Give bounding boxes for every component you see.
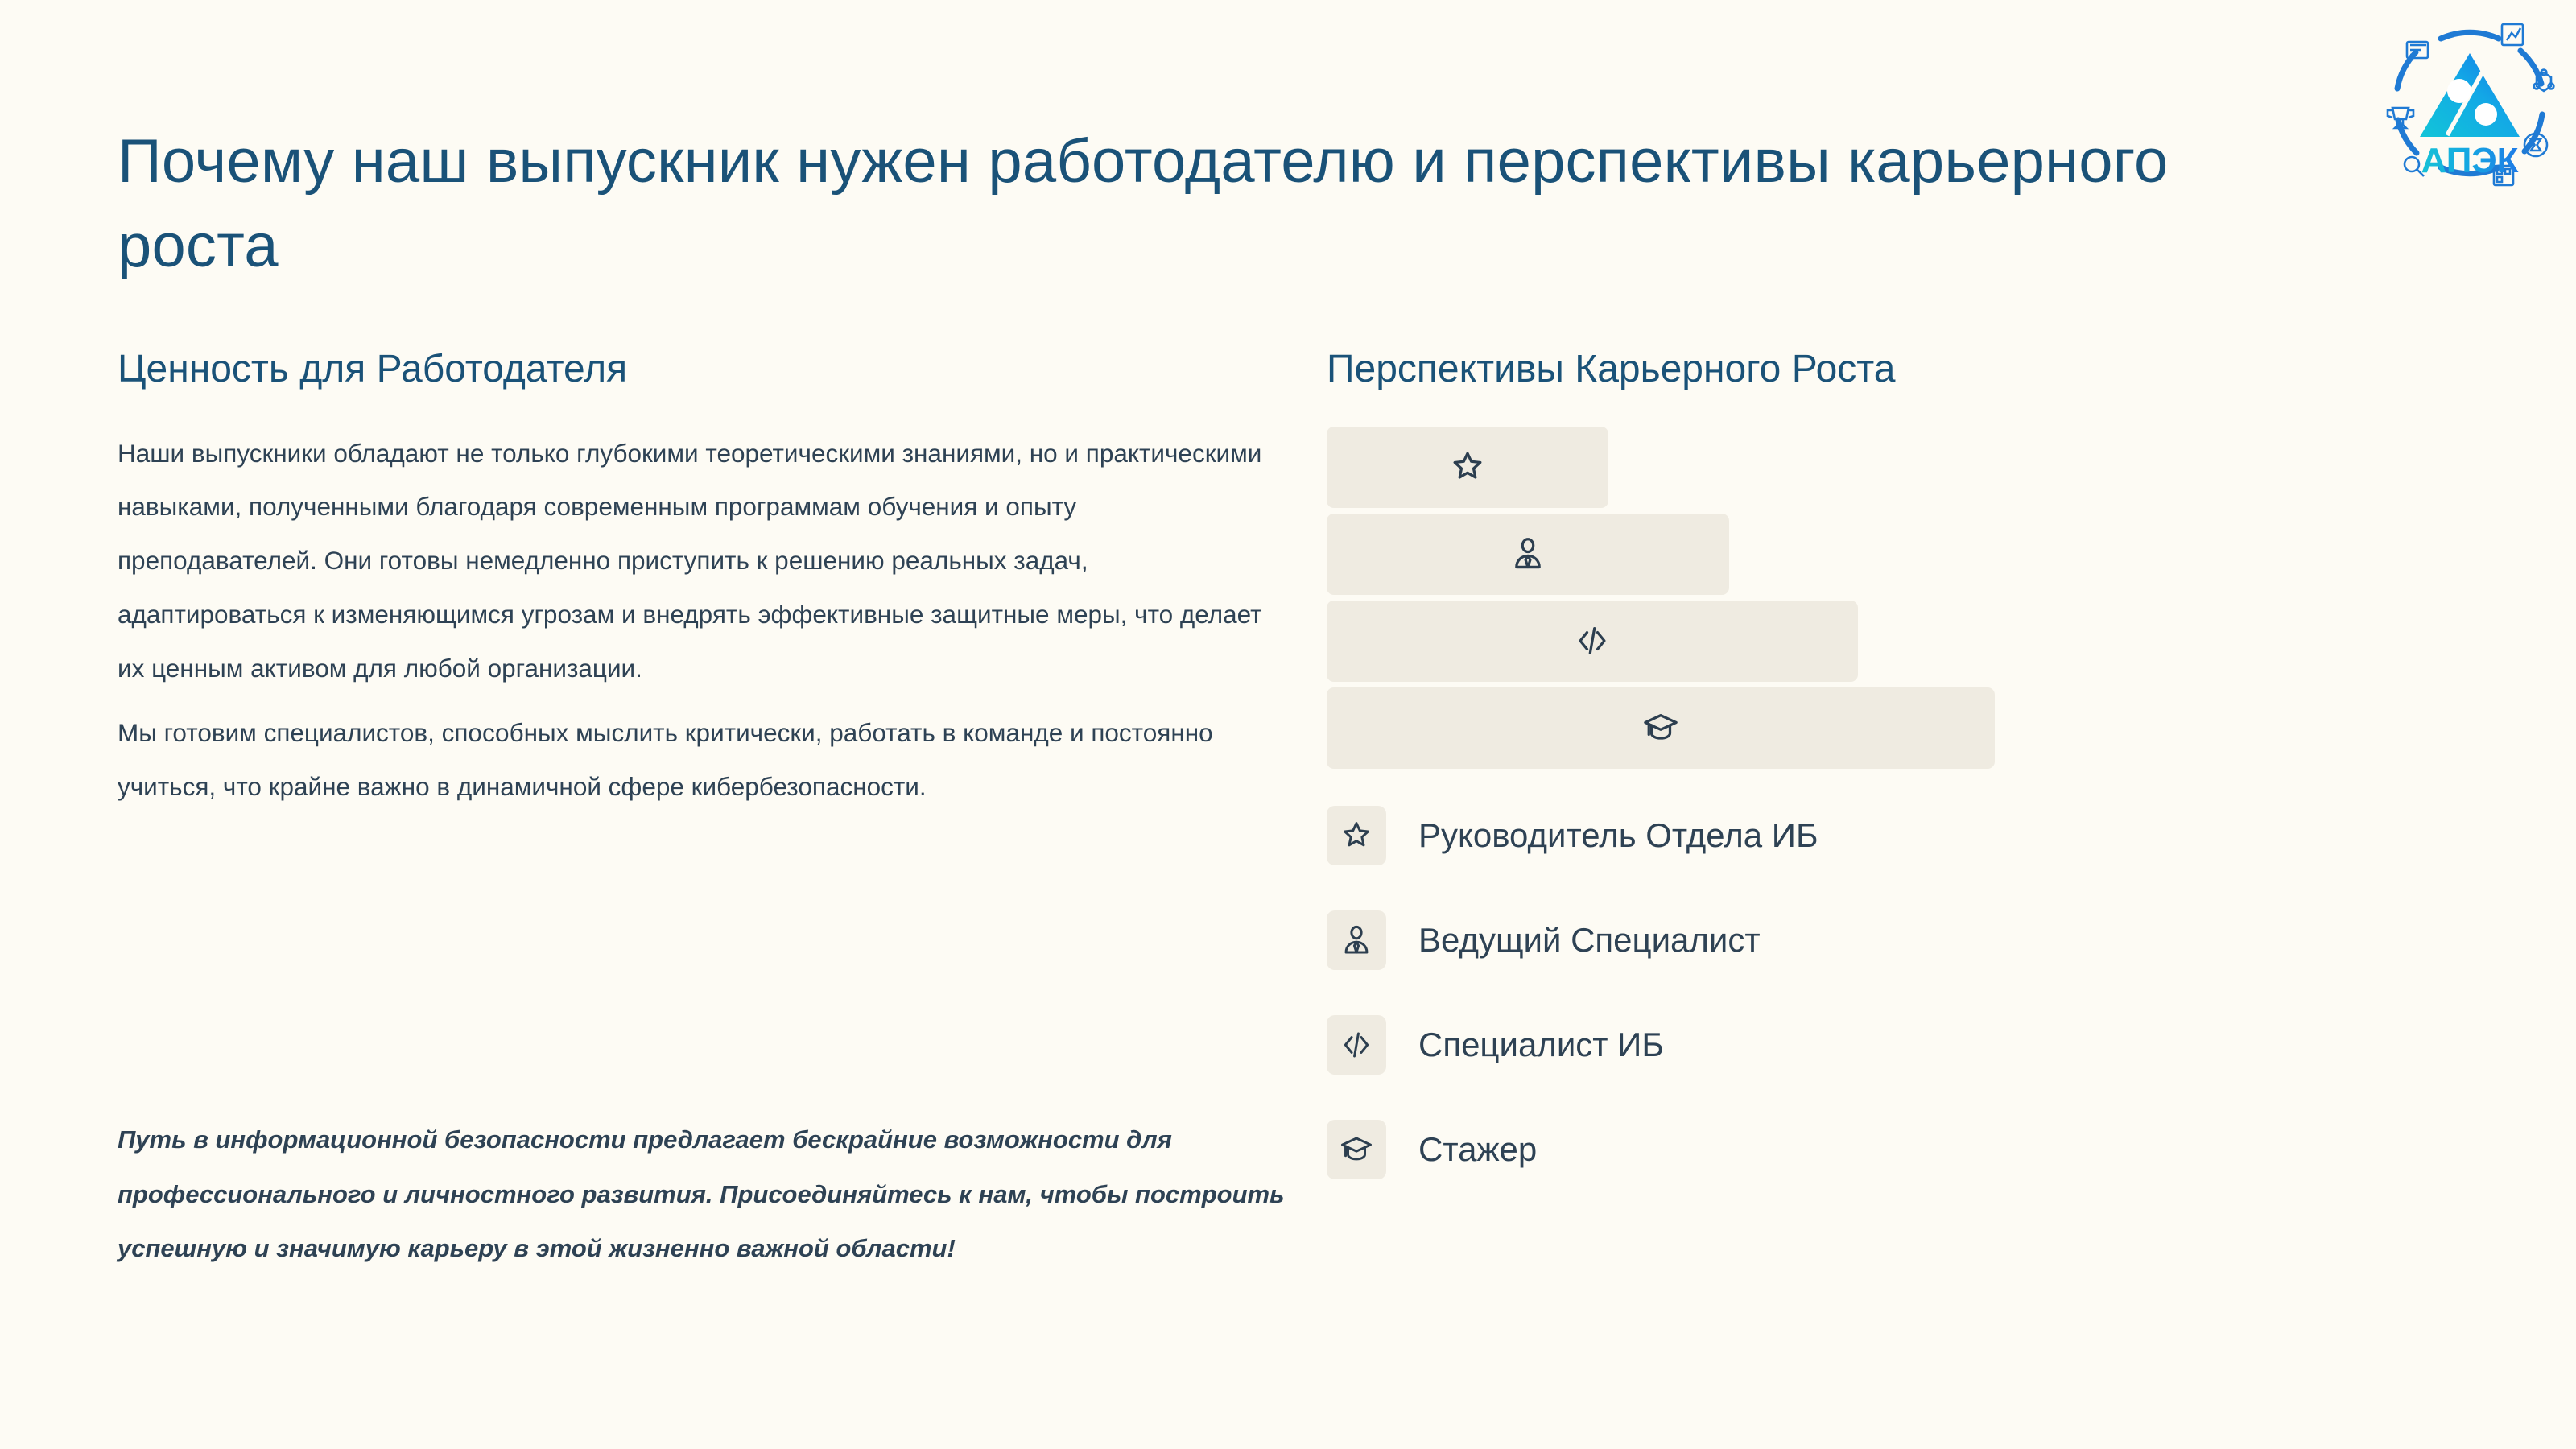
bar-row (1327, 687, 2502, 769)
bar-specialist (1327, 601, 1858, 682)
list-item: Руководитель Отдела ИБ (1327, 806, 2502, 865)
bar-rukovoditel (1327, 427, 1608, 508)
legend-label: Стажер (1418, 1133, 1537, 1166)
apek-logo: АПЭК (2381, 14, 2558, 192)
graduation-cap-icon (1637, 704, 1684, 751)
bar-row (1327, 427, 2502, 508)
user-tie-icon (1327, 910, 1386, 970)
graduation-cap-icon (1327, 1120, 1386, 1179)
employer-value-heading: Ценность для Работодателя (118, 346, 1293, 393)
star-icon (1444, 444, 1491, 490)
legend-label: Специалист ИБ (1418, 1028, 1664, 1062)
code-icon (1569, 617, 1616, 664)
bar-vedushchiy (1327, 514, 1729, 595)
user-tie-icon (1505, 530, 1551, 577)
list-item: Ведущий Специалист (1327, 910, 2502, 970)
page-title: Почему наш выпускник нужен работодателю … (118, 120, 2275, 289)
career-growth-heading: Перспективы Карьерного Роста (1327, 346, 2502, 393)
legend-label: Ведущий Специалист (1418, 923, 1761, 957)
employer-value-paragraph-2: Мы готовим специалистов, способных мысли… (118, 706, 1273, 814)
career-growth-bar-chart (1327, 427, 2502, 769)
star-icon (1327, 806, 1386, 865)
bar-row (1327, 601, 2502, 682)
slide: АПЭК Почему наш выпускник нужен работода… (0, 0, 2576, 1449)
employer-value-column: Ценность для Работодателя Наши выпускник… (118, 346, 1293, 819)
closing-call-to-action: Путь в информационной безопасности предл… (118, 1113, 1341, 1276)
code-icon (1327, 1015, 1386, 1075)
bar-stazher (1327, 687, 1995, 769)
list-item: Стажер (1327, 1120, 2502, 1179)
list-item: Специалист ИБ (1327, 1015, 2502, 1075)
bar-row (1327, 514, 2502, 595)
logo-text: АПЭК (2421, 141, 2519, 180)
legend-label: Руководитель Отдела ИБ (1418, 819, 1818, 852)
career-growth-column: Перспективы Карьерного Роста (1327, 346, 2502, 1224)
employer-value-paragraph-1: Наши выпускники обладают не только глубо… (118, 427, 1273, 696)
career-levels-legend: Руководитель Отдела ИБ Ведущий Специалис… (1327, 806, 2502, 1179)
